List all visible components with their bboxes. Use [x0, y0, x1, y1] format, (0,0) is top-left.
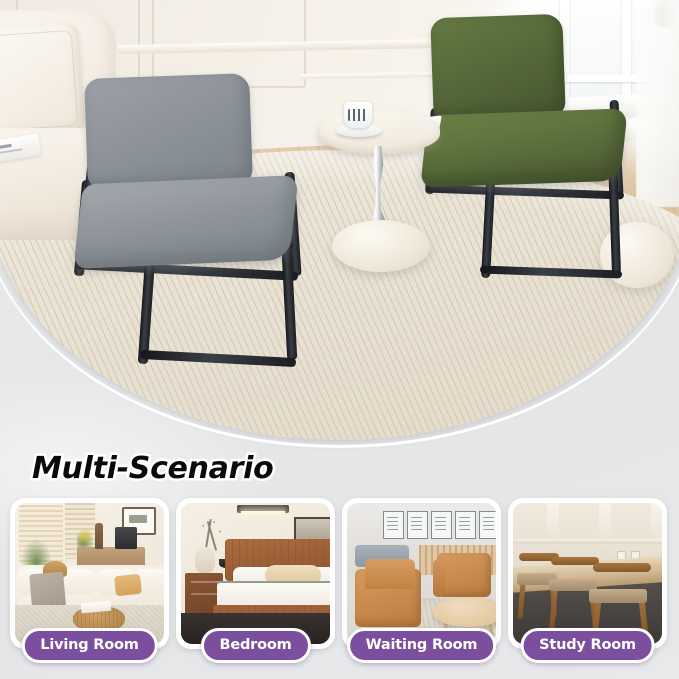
chair-backrest-cushion: [84, 73, 253, 189]
bottle: [95, 523, 103, 549]
dried-branches: [193, 515, 227, 551]
scenario-card-living-room[interactable]: Living Room: [10, 498, 169, 649]
scenario-photo-living-room: [15, 503, 164, 644]
study-chair-backrest: [551, 557, 599, 565]
upper-shelf: [513, 539, 662, 544]
scenario-card-waiting-room[interactable]: Waiting Room: [342, 498, 501, 649]
flower-vase: [77, 529, 93, 547]
scenario-card-study-room[interactable]: Study Room: [508, 498, 667, 649]
scenario-badge-bedroom[interactable]: Bedroom: [200, 628, 310, 663]
study-chair-seat: [589, 589, 647, 603]
armchair-arm: [433, 559, 445, 597]
hero-scene: [0, 0, 679, 440]
framed-art: [407, 511, 428, 539]
section-title: Multi-Scenario: [32, 451, 273, 486]
vase: [195, 547, 215, 573]
chair-seat-cushion: [73, 175, 298, 269]
product-image-root: Multi-Scenario: [0, 0, 679, 679]
gray-accent-chair: [56, 76, 356, 342]
armchair-backrest: [365, 559, 415, 589]
scenario-card-bedroom[interactable]: Bedroom: [176, 498, 335, 649]
scenario-photo-study-room: [513, 503, 662, 644]
coffee-machine: [115, 527, 137, 549]
carrel-divider: [599, 503, 611, 565]
chair-seat-cushion: [420, 108, 627, 187]
scenario-card-list: Living Room: [10, 498, 670, 649]
scenario-badge-living-room[interactable]: Living Room: [21, 628, 157, 663]
scenario-photo-waiting-room: [347, 503, 496, 644]
framed-art: [383, 511, 404, 539]
framed-art: [455, 511, 476, 539]
framed-art: [431, 511, 452, 539]
scenario-badge-waiting-room[interactable]: Waiting Room: [347, 628, 497, 663]
scenario-photo-bedroom: [181, 503, 330, 644]
wall-light: [237, 505, 289, 513]
framed-art: [479, 511, 496, 539]
chair-frame-rail: [480, 266, 622, 279]
round-coffee-table: [433, 597, 496, 627]
chair-frame-rail: [426, 185, 624, 200]
chair-backrest-cushion: [430, 14, 565, 121]
study-chair-backrest: [593, 563, 651, 572]
green-accent-chair: [410, 16, 679, 288]
scenario-badge-study-room[interactable]: Study Room: [520, 628, 655, 663]
accent-pillow: [114, 574, 142, 597]
leather-armchair: [437, 553, 491, 597]
